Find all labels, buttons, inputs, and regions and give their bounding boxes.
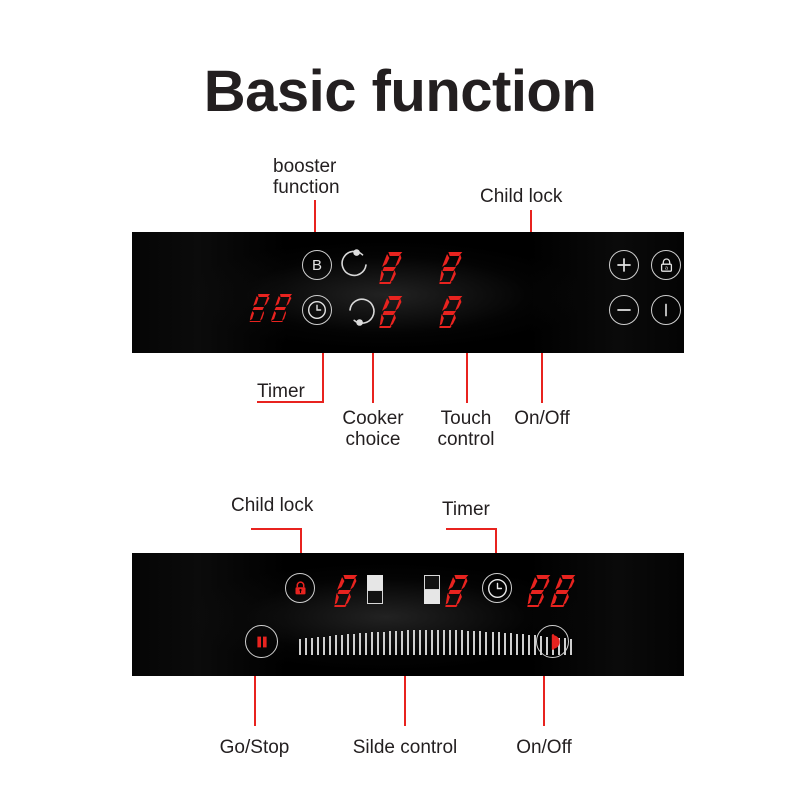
leader-timer-panel2-horizontal [446, 528, 497, 530]
slider-tick [359, 633, 361, 655]
timer-display-panel2 [527, 573, 582, 607]
slider-tick [498, 632, 500, 655]
slider-tick [377, 632, 379, 655]
slider-tick [570, 639, 572, 655]
callout-touch-control: Touch control [432, 408, 500, 450]
leader-child-lock-panel2-horizontal [251, 528, 302, 530]
leader-cooker-choice [372, 353, 374, 403]
page-title: Basic function [0, 58, 800, 125]
slider-tick [371, 632, 373, 655]
child-lock-button-panel2[interactable] [285, 573, 315, 603]
slider-tick [317, 637, 319, 655]
slider-tick [347, 634, 349, 655]
cooker-choice-bottom-button[interactable] [341, 293, 375, 327]
timer-button-panel2[interactable] [482, 573, 512, 603]
panel-sheen-2 [132, 553, 684, 676]
slider-tick [401, 631, 403, 655]
leader-touch-control [466, 353, 468, 403]
minus-button[interactable] [609, 295, 639, 325]
slider-tick [395, 631, 397, 655]
timer-display-panel1 [250, 292, 301, 322]
slider-tick [407, 630, 409, 655]
padlock-icon: a [658, 257, 675, 274]
leader-child-lock-panel2-vertical [300, 528, 302, 553]
left-zone-display [334, 573, 361, 607]
plus-button[interactable] [609, 250, 639, 280]
slider-tick [522, 634, 524, 655]
power-button-panel2[interactable] [536, 625, 569, 658]
leader-slide-control [404, 676, 406, 726]
booster-b-icon: B [312, 258, 322, 273]
slider-tick [389, 631, 391, 655]
slider-tick [425, 630, 427, 655]
child-lock-button[interactable]: a [651, 250, 681, 280]
cooker-ring-top-icon [341, 248, 375, 282]
slider-tick [473, 631, 475, 655]
callout-on-off-panel1: On/Off [509, 408, 575, 429]
right-zone-display [445, 573, 472, 607]
callout-child-lock-panel1: Child lock [480, 186, 562, 207]
minus-icon [615, 301, 633, 319]
callout-on-off-panel2: On/Off [509, 737, 579, 758]
slider-tick [455, 630, 457, 655]
slider-tick [419, 630, 421, 655]
slider-tick [437, 630, 439, 655]
slider-tick [504, 633, 506, 655]
control-panel-slide [132, 553, 684, 676]
slider-tick [443, 630, 445, 655]
plus-icon [615, 256, 633, 274]
leader-go-stop [254, 676, 256, 726]
leader-on-off-panel1 [541, 353, 543, 403]
callout-cooker-choice: Cooker choice [339, 408, 407, 450]
power-line-icon [657, 301, 675, 319]
clock-icon [487, 578, 508, 599]
power-button-panel1[interactable] [651, 295, 681, 325]
callout-slide-control: Silde control [345, 737, 465, 758]
control-panel-basic: B [132, 232, 684, 353]
slider-tick [510, 633, 512, 655]
go-stop-button[interactable] [245, 625, 278, 658]
slider-tick [323, 637, 325, 656]
screenshot-root: Basic function booster function Child lo… [0, 0, 800, 800]
slider-tick [516, 634, 518, 655]
slider-tick [365, 633, 367, 655]
slider-tick [311, 638, 313, 655]
callout-timer-panel2: Timer [442, 499, 490, 520]
timer-button[interactable] [302, 295, 332, 325]
clock-icon [307, 300, 327, 320]
left-zone-level-indicator [367, 575, 383, 604]
slider-tick [479, 631, 481, 655]
leader-on-off-panel2 [543, 676, 545, 726]
slider-tick [353, 634, 355, 655]
callout-child-lock-panel2: Child lock [231, 495, 313, 516]
svg-text:a: a [665, 265, 668, 271]
cooker-choice-top-button[interactable] [341, 248, 375, 282]
padlock-icon [292, 580, 309, 597]
cooker-bottom-display [379, 294, 406, 328]
slider-tick [341, 635, 343, 655]
slider-tick [449, 630, 451, 655]
cooker-bottom-power-display [439, 294, 466, 328]
slider-tick [305, 638, 307, 655]
cooker-top-power-display [439, 250, 466, 284]
slider-tick [413, 630, 415, 655]
cooker-ring-bottom-icon [341, 293, 375, 327]
slider-tick [383, 632, 385, 656]
slider-tick [492, 632, 494, 655]
slider-tick [461, 630, 463, 655]
slider-tick [528, 635, 530, 655]
slider-tick [431, 630, 433, 655]
panel-sheen [132, 232, 684, 353]
power-half-icon [543, 632, 563, 652]
slider-tick [299, 639, 301, 655]
slider-tick [335, 635, 337, 655]
callout-timer-panel1: Timer [257, 381, 305, 402]
leader-timer-panel2-vertical [495, 528, 497, 553]
slider-tick [329, 636, 331, 655]
right-zone-level-indicator [424, 575, 440, 604]
callout-booster-function: booster function [273, 156, 340, 198]
slide-control[interactable] [299, 627, 572, 655]
callout-go-stop: Go/Stop [207, 737, 302, 758]
booster-button[interactable]: B [302, 250, 332, 280]
slider-tick [467, 631, 469, 655]
cooker-top-display [379, 250, 406, 284]
slider-tick [485, 632, 487, 656]
leader-timer-panel1-vertical [322, 353, 324, 403]
pause-icon [252, 632, 272, 652]
